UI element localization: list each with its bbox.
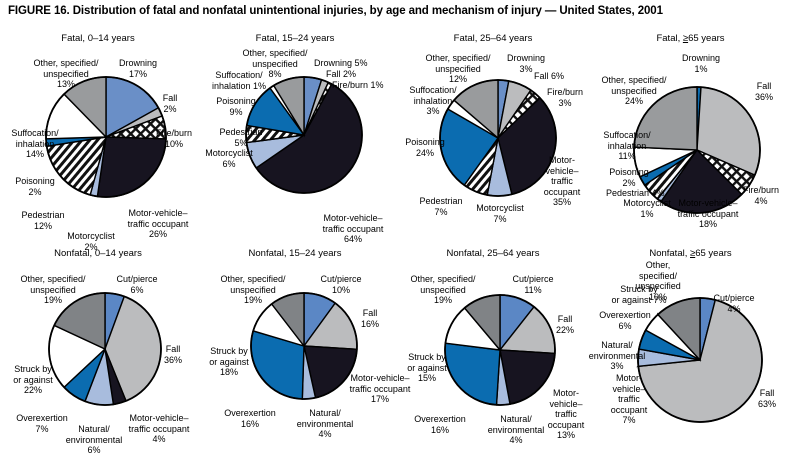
label-fall: Fall 2% [152,93,188,114]
label-suffocation-value: 11% [618,151,635,161]
label-struck-line2: or against [209,357,249,367]
label-motorcyclist: Motorcyclist 7% [466,203,534,224]
label-drowning: Drowning 17% [108,58,168,79]
label-motor-vehicle-line2: traffic occupant [128,219,189,229]
label-motor-vehicle-line1: Motor-vehicle– [129,413,188,423]
label-poisoning-value: 9% [229,107,242,117]
chart-panel-fatal-65: Fatal, ≥65 years [592,33,789,245]
label-fall-text: Fall [363,308,378,318]
label-motor-vehicle-value: 18% [699,219,717,229]
label-fall: Fall 22% [546,314,584,335]
label-overexertion-value: 6% [618,321,631,331]
label-pedestrian-value: 7% [434,207,447,217]
label-suffocation: Suffocation/ inhalation 14% [2,128,68,160]
chart-panel-nonfatal-25-64: Nonfatal, 25–64 years Cut/pierce 11% Fal… [394,248,592,460]
label-pedestrian-value: 12% [34,221,52,231]
label-struck-value: 18% [220,367,238,377]
label-other-value: 19% [44,295,62,305]
label-overexertion-value: 7% [35,424,48,434]
label-fall-text: Fall [163,93,178,103]
label-suffocation-line1: Suffocation/ [11,128,58,138]
label-other: Other, specified/ unspecified 19% [210,274,296,306]
label-suffocation: Suffocation/ inhalation 11% [592,130,662,162]
label-other: Other, specified/ unspecified 13% [24,58,108,90]
label-struck-line2: or against [407,363,447,373]
figure-title: FIGURE 16. Distribution of fatal and non… [8,5,783,17]
label-suffocation-line1: Suffocation/ [409,85,456,95]
label-other-value: 12% [449,74,467,84]
panel-title-fatal-65: Fatal, ≥65 years [592,33,789,44]
label-cut-pierce-value: 11% [524,285,541,295]
label-motor-vehicle: Motor-vehicle– traffic occupant 26% [118,208,198,240]
panel-title-suffix: 65 years [695,248,731,259]
label-natural-environmental: Natural/ environmental 3% [580,340,654,372]
label-other: Other, specified/ unspecified 8% [234,48,316,80]
panel-title-prefix: Fatal, [656,33,682,44]
label-fall: Fall 36% [744,81,784,102]
label-drowning-text: Drowning [119,58,157,68]
label-poisoning-text: Poisoning [216,96,256,106]
label-motorcyclist-value: 7% [493,214,506,224]
label-motor-vehicle-value: 64% [344,234,362,244]
label-other: Other, specified/ unspecified 10% [626,260,690,302]
panel-title-fatal-15-24: Fatal, 15–24 years [196,33,394,44]
panel-title-nonfatal-65: Nonfatal, ≥65 years [592,248,789,259]
label-suffocation-line1: Suffocation/ [603,130,650,140]
label-suffocation-value: 14% [26,149,44,159]
label-fall-value: 16% [361,319,379,329]
label-pedestrian-text: Pedestrian [219,127,262,137]
label-natural-line2: environmental [297,419,354,429]
label-fall: Fall 63% [748,388,786,409]
label-fireburn-value: 4% [754,196,767,206]
label-fall-text: Fall [757,81,772,91]
label-cut-pierce: Cut/pierce 11% [500,274,566,295]
label-other-line2: unspecified [43,69,89,79]
label-other: Other, specified/ unspecified 19% [10,274,96,306]
label-natural-line2: environmental [488,425,545,435]
label-motor-vehicle-line2: vehicle– [612,384,645,394]
label-fall: Fall 36% [154,344,192,365]
label-motor-vehicle-value: 26% [149,229,167,239]
label-other: Other, specified/ unspecified 12% [416,53,500,85]
label-pedestrian-value: 5% [234,138,247,148]
label-other: Other, specified/ unspecified 24% [592,75,676,107]
label-poisoning-text: Poisoning [405,137,445,147]
label-struck-line1: Struck by [408,352,446,362]
label-fall-text: Fall [760,388,775,398]
panel-title-nonfatal-15-24: Nonfatal, 15–24 years [196,248,394,259]
label-motor-vehicle-value: 4% [152,434,165,444]
label-natural-value: 6% [87,445,100,455]
label-cut-pierce: Cut/pierce 6% [104,274,170,295]
label-other-line2: specified/ [639,271,677,281]
label-other-value: 13% [57,79,75,89]
label-other-line2: unspecified [30,285,76,295]
label-motor-vehicle: Motor-vehicle– traffic occupant 64% [312,213,394,245]
panel-title-prefix: Nonfatal, [649,248,690,259]
label-fireburn: Fire/burn 3% [538,87,592,108]
label-struck-line2: or against [13,375,53,385]
label-other-value: 8% [268,69,281,79]
label-overexertion: Overexertion 7% [6,413,78,434]
label-poisoning: Poisoning 2% [600,167,658,188]
label-fireburn-value: 10% [165,139,183,149]
label-motor-vehicle-value: 35% [553,197,571,207]
label-motorcyclist-text: Motorcyclist [67,231,115,241]
label-motor-vehicle-line4: occupant [544,187,581,197]
label-drowning-value: 17% [129,69,147,79]
label-natural-environmental: Natural/ environmental 4% [476,414,556,446]
label-other-line1: Other, specified/ [242,48,307,58]
label-other-value: 10% [649,292,667,302]
label-motor-vehicle: Motor-vehicle– traffic occupant 4% [120,413,198,445]
label-fall: Fall 16% [351,308,389,329]
label-pedestrian-text: Pedestrian [21,210,64,220]
label-other: Other, specified/ unspecified 19% [400,274,486,306]
label-overexertion-text: Overexertion [224,408,276,418]
label-fall-value: 36% [755,92,773,102]
label-struck-line1: Struck by [210,346,248,356]
label-overexertion: Overexertion 16% [402,414,478,435]
label-poisoning-value: 24% [416,148,434,158]
label-poisoning-text: Poisoning [15,176,55,186]
label-motor-vehicle-line2: traffic occupant [323,224,384,234]
label-natural-line1: Natural/ [78,424,110,434]
label-cut-pierce: Cut/pierce 4% [702,293,766,314]
label-other-line1: Other, specified/ [33,58,98,68]
label-other-line1: Other, specified/ [601,75,666,85]
label-natural-environmental: Natural/ environmental 4% [286,408,364,440]
chart-panel-fatal-15-24: Fatal, 15–24 years [196,33,394,245]
label-other-line2: unspecified [252,59,298,69]
label-motor-vehicle-line3: traffic [555,409,577,419]
label-motor-vehicle-value: 17% [371,394,389,404]
label-overexertion: Overexertion 6% [588,310,662,331]
label-overexertion: Overexertion 16% [212,408,288,429]
label-fireburn-text: Fire/burn [156,128,192,138]
label-cut-pierce-value: 6% [130,285,143,295]
label-drowning-value: 1% [694,64,707,74]
label-poisoning-value: 2% [28,187,41,197]
label-overexertion-text: Overexertion [599,310,651,320]
label-poisoning: Poisoning 2% [6,176,64,197]
label-motor-vehicle-line2: traffic occupant [678,209,739,219]
label-overexertion-value: 16% [431,425,449,435]
label-other-value: 19% [244,295,262,305]
label-overexertion-text: Overexertion [414,414,466,424]
label-cut-pierce-text: Cut/pierce [116,274,157,284]
label-drowning-text: Drowning [507,53,545,63]
label-other-value: 24% [625,96,643,106]
label-motor-vehicle: Motor- vehicle– traffic occupant 35% [534,155,590,208]
label-drowning-text: Drowning [682,53,720,63]
label-motor-vehicle-line3: traffic [618,394,640,404]
label-other-line2: unspecified [611,86,657,96]
label-pedestrian-text: Pedestrian [419,196,462,206]
label-drowning: Drowning 5% [314,58,368,69]
label-natural-line1: Natural/ [309,408,341,418]
label-natural-value: 4% [318,429,331,439]
label-suffocation-value: 3% [426,106,439,116]
label-poisoning-value: 2% [622,178,635,188]
label-fireburn-value: 3% [558,98,571,108]
label-motor-vehicle-line1: Motor-vehicle– [678,198,737,208]
label-other-line1: Other, specified/ [20,274,85,284]
label-motor-vehicle-line1: Motor-vehicle– [323,213,382,223]
chart-panel-fatal-25-64: Fatal, 25–64 years [394,33,592,245]
label-motorcyclist: Motorcyclist 1% [614,198,680,219]
label-fall: Fall 6% [534,71,564,82]
label-other-line2: unspecified [435,64,481,74]
label-overexertion-value: 16% [241,419,259,429]
chart-panel-fatal-0-14: Fatal, 0–14 years [0,33,196,245]
panel-title-nonfatal-0-14: Nonfatal, 0–14 years [0,248,196,259]
label-drowning: Drowning 1% [670,53,732,74]
label-poisoning-text: Poisoning [609,167,649,177]
label-cut-pierce-text: Cut/pierce [320,274,361,284]
label-motor-vehicle: Motor- vehicle– traffic occupant 7% [600,373,658,426]
label-suffocation-line2: inhalation [414,96,453,106]
label-natural-line1: Natural/ [500,414,532,424]
label-motor-vehicle-line3: traffic [551,176,573,186]
label-drowning-value: 3% [519,64,532,74]
label-fall-text: Fall [558,314,573,324]
label-motor-vehicle-line2: traffic occupant [129,424,190,434]
panel-title-fatal-25-64: Fatal, 25–64 years [394,33,592,44]
label-other-line1: Other, specified/ [410,274,475,284]
label-cut-pierce-text: Cut/pierce [512,274,553,284]
label-cut-pierce-text: Cut/pierce [713,293,754,303]
label-struck-value: 22% [24,385,42,395]
label-fall-text: Fall [166,344,181,354]
label-pedestrian: Pedestrian 5% [210,127,272,148]
label-motorcyclist-value: 1% [640,209,653,219]
label-struck-line1: Struck by [14,364,52,374]
label-other-line1: Other, [646,260,671,270]
label-struck-by: Struck by or against 15% [394,352,460,384]
label-other-line1: Other, specified/ [425,53,490,63]
label-natural-line2: environmental [589,351,646,361]
chart-panel-nonfatal-0-14: Nonfatal, 0–14 years Cut/pierce 6% Fall … [0,248,196,460]
panel-title-fatal-0-14: Fatal, 0–14 years [0,33,196,44]
label-fall: Fall 2% [326,69,356,80]
label-motor-vehicle-line1: Motor- [549,155,575,165]
label-natural-value: 3% [610,361,623,371]
label-motor-vehicle-line4: occupant [611,405,648,415]
label-pedestrian: Pedestrian 7% [410,196,472,217]
label-fall-value: 2% [163,104,176,114]
label-struck-by: Struck by or against 22% [0,364,66,396]
label-suffocation-line2: inhalation 1% [212,81,266,91]
label-motorcyclist: Motorcyclist 6% [196,148,262,169]
panel-title-nonfatal-25-64: Nonfatal, 25–64 years [394,248,592,259]
label-cut-pierce: Cut/pierce 10% [308,274,374,295]
label-other-line1: Other, specified/ [220,274,285,284]
label-struck-value: 15% [418,373,436,383]
label-motorcyclist-value: 6% [222,159,235,169]
label-motor-vehicle-line2: vehicle– [545,166,578,176]
label-fall-value: 22% [556,325,574,335]
label-other-line3: unspecified [635,281,681,291]
label-poisoning: Poisoning 9% [206,96,266,117]
label-other-value: 19% [434,295,452,305]
label-poisoning: Poisoning 24% [394,137,456,158]
label-suffocation-line2: inhalation [608,141,647,151]
label-motor-vehicle-line2: vehicle– [549,399,582,409]
label-cut-pierce-value: 4% [727,304,740,314]
label-natural-line1: Natural/ [601,340,633,350]
label-other-line2: unspecified [420,285,466,295]
label-motor-vehicle-line1: Motor- [553,388,579,398]
label-pedestrian: Pedestrian 12% [12,210,74,231]
label-motor-vehicle-line1: Motor- [616,373,642,383]
panel-title-suffix: 65 years [688,33,724,44]
label-motor-vehicle-value: 13% [557,430,575,440]
label-natural-value: 4% [509,435,522,445]
chart-panel-nonfatal-65: Nonfatal, ≥65 years Cut/pierce 4% Fall 6… [592,248,789,460]
label-struck-by: Struck by or against 18% [196,346,262,378]
label-other-line2: unspecified [230,285,276,295]
label-motor-vehicle-value: 7% [622,415,635,425]
label-fireburn: Fire/burn 1% [332,80,384,91]
label-motorcyclist-text: Motorcyclist [205,148,253,158]
label-motorcyclist-text: Motorcyclist [623,198,671,208]
label-fall-value: 36% [164,355,182,365]
label-fireburn: Fire/burn 10% [148,128,200,149]
label-suffocation-line2: inhalation [16,139,55,149]
label-cut-pierce-value: 10% [332,285,350,295]
label-suffocation: Suffocation/ inhalation 3% [400,85,466,117]
label-overexertion-text: Overexertion [16,413,68,423]
label-motorcyclist-text: Motorcyclist [476,203,524,213]
label-fireburn-text: Fire/burn [743,185,779,195]
label-natural-line2: environmental [66,435,123,445]
chart-panel-nonfatal-15-24: Nonfatal, 15–24 years Cut/pierce 10% Fal… [196,248,394,460]
label-fall-value: 63% [758,399,776,409]
label-fireburn-text: Fire/burn [547,87,583,97]
label-pedestrian: Pedestrian 4% [606,188,665,199]
label-motor-vehicle-line1: Motor-vehicle– [128,208,187,218]
